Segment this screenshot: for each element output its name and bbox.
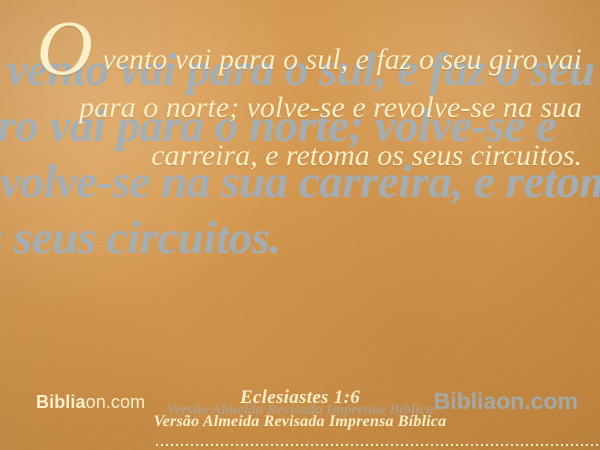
brand-logo-strong: Biblia bbox=[36, 392, 86, 412]
footer: Versão Almeida Revisada Imprensa Bíblica… bbox=[0, 378, 600, 450]
brand-watermark: Bibliaon.com bbox=[434, 388, 578, 415]
verse-body-text: vento vai para o sul, e faz o seu giro v… bbox=[79, 43, 582, 172]
brand-logo-light: on.com bbox=[86, 392, 146, 412]
dotted-divider bbox=[156, 444, 600, 446]
verse-text: O vento vai para o sul, e faz o seu giro… bbox=[18, 36, 582, 180]
verse-image-canvas: O vento vai para o sul, e faz o seu giro… bbox=[0, 0, 600, 450]
brand-logo[interactable]: Bibliaon.com bbox=[36, 392, 145, 413]
verse-dropcap: O bbox=[36, 4, 94, 91]
